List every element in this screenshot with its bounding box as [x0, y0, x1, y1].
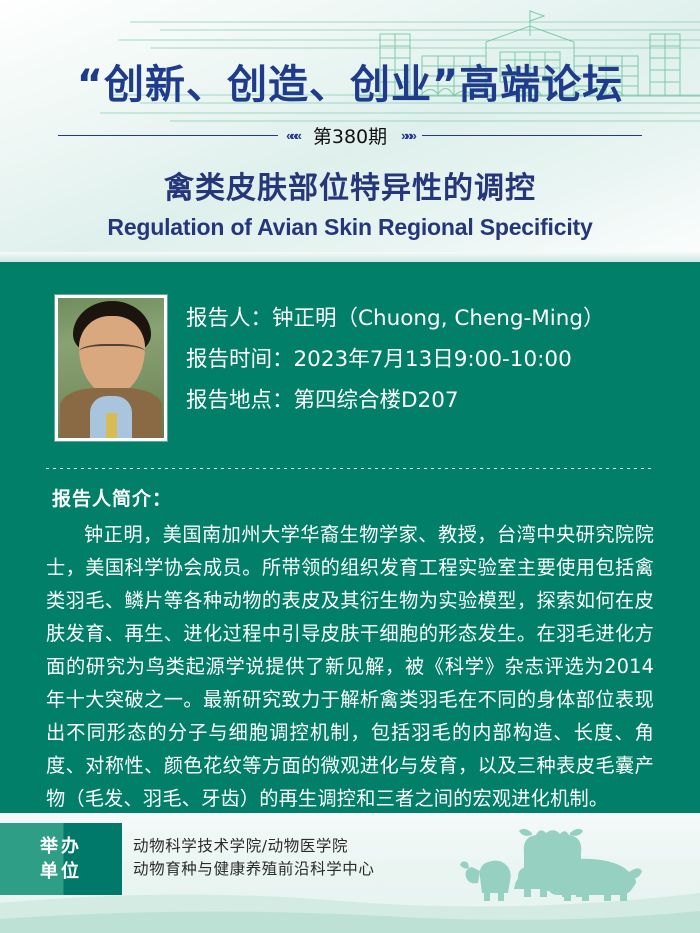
organizer-line-1: 动物科学技术学院/动物医学院 — [133, 835, 375, 858]
section-divider-dotted — [46, 468, 654, 469]
chevron-left-icon: ««« — [286, 128, 299, 143]
organizer-badge-line1: 举办 — [40, 834, 82, 859]
divider-rule-left — [58, 135, 278, 136]
speaker-name-line: 报告人：钟正明（Chuong, Cheng-Ming） — [186, 298, 676, 339]
speaker-details: 报告人：钟正明（Chuong, Cheng-Ming） 报告时间：2023年7月… — [186, 298, 676, 421]
speaker-venue-line: 报告地点：第四综合楼D207 — [186, 380, 676, 421]
forum-title: “创新、创造、创业”高端论坛 — [0, 52, 700, 110]
bio-heading: 报告人简介： — [52, 484, 172, 511]
organizer-names: 动物科学技术学院/动物医学院 动物育种与健康养殖前沿科学中心 — [133, 835, 375, 881]
chevron-right-icon: »»» — [401, 128, 414, 143]
organizer-badge-line2: 单位 — [40, 859, 82, 884]
poster-header: “创新、创造、创业”高端论坛 ««« 第380期 »»» 禽类皮肤部位特异性的调… — [0, 0, 700, 252]
issue-number: 第380期 — [307, 122, 393, 149]
bio-text: 钟正明，美国南加州大学华裔生物学家、教授，台湾中央研究院院士，美国科学协会成员。… — [46, 518, 654, 815]
poster-root: “创新、创造、创业”高端论坛 ««« 第380期 »»» 禽类皮肤部位特异性的调… — [0, 0, 700, 933]
talk-title-chinese: 禽类皮肤部位特异性的调控 — [0, 163, 700, 207]
divider-rule-right — [422, 135, 642, 136]
issue-divider: ««« 第380期 »»» — [0, 120, 700, 150]
header-body-seam — [0, 252, 700, 262]
poster-body: 报告人：钟正明（Chuong, Cheng-Ming） 报告时间：2023年7月… — [0, 262, 700, 813]
avatar — [55, 295, 167, 441]
talk-title-english: Regulation of Avian Skin Regional Specif… — [0, 214, 700, 241]
organizer-badge: 举办 单位 — [0, 823, 122, 895]
organizer-line-2: 动物育种与健康养殖前沿科学中心 — [133, 858, 375, 881]
farm-animals-icon — [458, 819, 688, 907]
speaker-block: 报告人：钟正明（Chuong, Cheng-Ming） 报告时间：2023年7月… — [0, 262, 700, 458]
poster-footer: 举办 单位 动物科学技术学院/动物医学院 动物育种与健康养殖前沿科学中心 — [0, 813, 700, 933]
speaker-time-line: 报告时间：2023年7月13日9:00-10:00 — [186, 339, 676, 380]
